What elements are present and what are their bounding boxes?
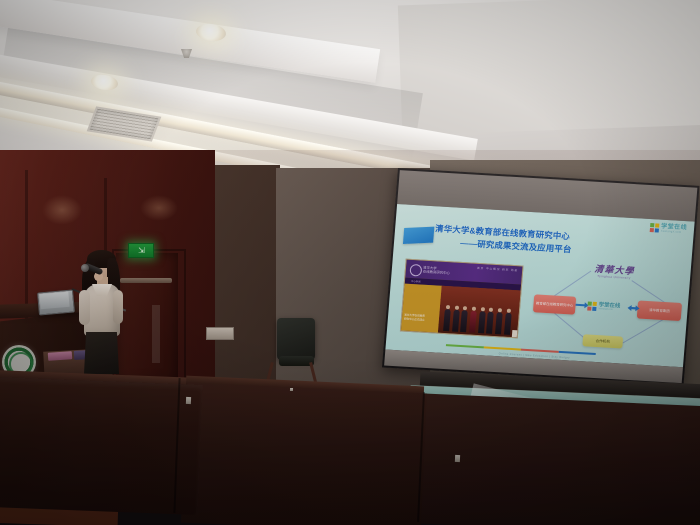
lecture-desk-left: [0, 377, 202, 515]
title-accent-shape: [403, 227, 434, 244]
desk-latch[interactable]: [455, 455, 460, 462]
diagram-arrow: [576, 304, 586, 307]
website-group-photo: [438, 286, 521, 338]
diagram-center-logo-squares: [587, 301, 597, 311]
relationship-diagram: 清華大學 Tsinghua University 教育部在线教育研究中心 清华教…: [526, 256, 685, 361]
table-item: [48, 351, 72, 361]
website-screenshot: 清华大学 在线教育研究中心 首页 中心概况 研究 动态 中心新闻: [400, 259, 524, 339]
office-chair[interactable]: [277, 318, 315, 360]
wall-light-glow: [42, 195, 82, 225]
presentation-slide: 学堂在线 XuetangX.com 清华大学&教育部在线教育研究中心 ——研究成…: [385, 204, 694, 367]
slide-title: 清华大学&教育部在线教育研究中心 ——研究成果交流及应用平台: [434, 222, 666, 261]
desk-latch[interactable]: [290, 388, 293, 391]
running-man-icon: ⇲: [138, 247, 144, 255]
wall-light-glow: [140, 195, 178, 221]
projection-screen: 学堂在线 XuetangX.com 清华大学&教育部在线教育研究中心 ——研究成…: [382, 168, 700, 385]
wall-socket[interactable]: [206, 327, 234, 340]
exit-door[interactable]: [116, 253, 178, 383]
laptop-screen: [39, 292, 69, 309]
exit-sign: ⇲: [128, 243, 154, 258]
lecture-desk-middle: [181, 383, 427, 525]
website-caption-line2: 研究中心正式成立: [404, 317, 432, 322]
diagram-connector: [622, 319, 663, 343]
desk-latch[interactable]: [186, 397, 191, 404]
tsinghua-logo: 清華大學 Tsinghua University: [586, 261, 643, 280]
presenter-arm: [79, 290, 90, 325]
website-name-sub: 在线教育研究中心: [423, 270, 450, 276]
website-caption: 清华大学在线教育 研究中心正式成立: [404, 314, 433, 323]
photo-scene: ⇲: [0, 0, 700, 525]
diagram-box-huawei-edu: 清华教育集团: [637, 300, 682, 321]
diagram-center-logo: 学堂在线 XuetangX.com: [587, 299, 630, 314]
microphone-head-icon: [81, 264, 89, 272]
presenter-skirt: [84, 332, 119, 374]
door-glass-strip: [152, 305, 160, 363]
diagram-arrow: [630, 307, 636, 309]
website-nav: 首页 中心概况 研究 动态: [477, 266, 518, 272]
website-photo-banner: [512, 330, 524, 338]
diagram-box-moe-center: 教育部在线教育研究中心: [533, 294, 576, 314]
xuetangx-logo-squares: [650, 223, 660, 233]
presenter-arm: [113, 290, 123, 324]
xuetangx-logo: 学堂在线 XuetangX.com: [650, 223, 688, 234]
website-subnav-label: 中心新闻: [411, 279, 421, 284]
ceiling-panel-right: [398, 0, 700, 135]
door-push-bar[interactable]: [120, 278, 172, 283]
website-logo-icon: [409, 264, 422, 277]
website-logo-text: 清华大学 在线教育研究中心: [423, 266, 451, 276]
website-body: 清华大学在线教育 研究中心正式成立 2014-03: [401, 284, 521, 338]
diagram-box-partners: 合作机构: [582, 334, 623, 348]
